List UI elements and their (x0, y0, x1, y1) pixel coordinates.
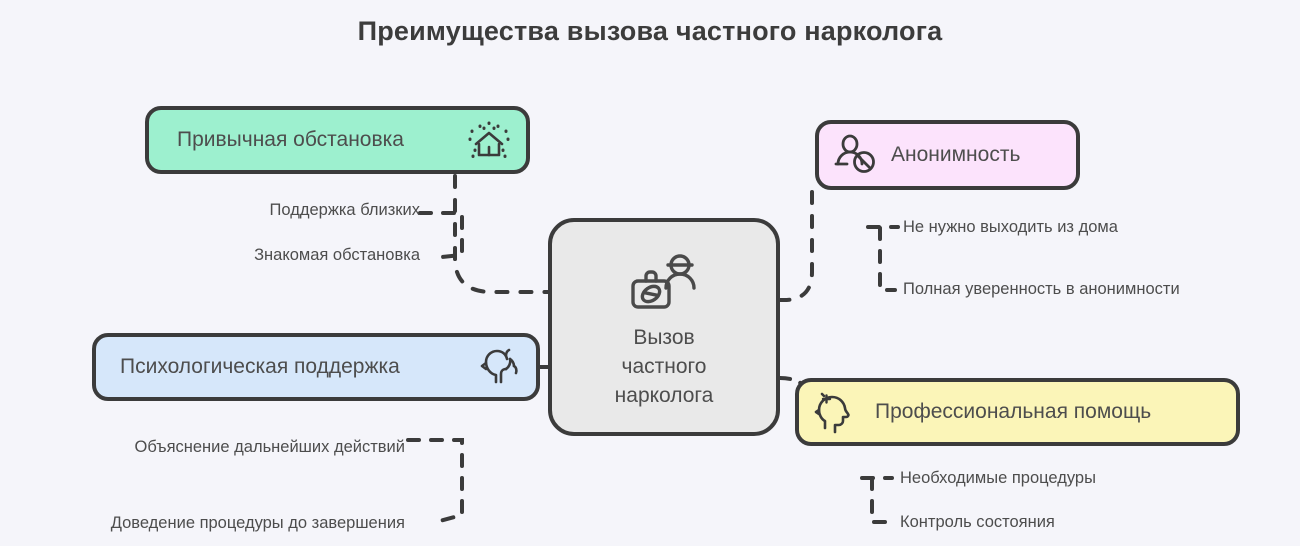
branch-label-yellow: Профессиональная помощь (875, 400, 1151, 424)
head-with-medical-cross-icon (813, 390, 861, 434)
central-node-label: Вызов частного нарколога (615, 323, 714, 410)
sub-label-pink-1: Полная уверенность в анонимности (903, 280, 1180, 299)
branch-label-pink: Анонимность (891, 143, 1020, 167)
branch-node-blue[interactable]: Психологическая поддержка (92, 333, 540, 401)
connector-pink-to-center (780, 192, 812, 300)
sub-label-blue-0: Объяснение дальнейших действий (60, 438, 405, 457)
sub-label-blue-1: Доведение процедуры до завершения (45, 514, 405, 533)
sub-label-yellow-1: Контроль состояния (900, 513, 1055, 532)
central-node[interactable]: Вызов частного нарколога (548, 218, 780, 436)
connector-blue-children (408, 440, 462, 522)
branch-label-green: Привычная обстановка (177, 128, 404, 152)
connector-pink-children (880, 228, 895, 290)
branch-node-yellow[interactable]: Профессиональная помощь (795, 378, 1240, 446)
branch-node-pink[interactable]: Анонимность (815, 120, 1080, 190)
doctor-with-medical-bag-icon (625, 251, 703, 313)
anonymous-person-icon (833, 134, 879, 176)
house-icon (466, 118, 512, 162)
connector-yellow-children (872, 478, 890, 522)
branch-label-blue: Психологическая поддержка (120, 355, 400, 379)
sub-label-green-1: Знакомая обстановка (185, 246, 420, 265)
sub-label-green-0: Поддержка близких (205, 201, 420, 220)
head-with-hand-icon (476, 346, 522, 388)
branch-node-green[interactable]: Привычная обстановка (145, 106, 530, 174)
mindmap-canvas: Преимущества вызова частного нарколога (0, 0, 1300, 546)
sub-label-pink-0: Не нужно выходить из дома (903, 218, 1118, 237)
connector-green-to-center (455, 176, 548, 292)
sub-label-yellow-0: Необходимые процедуры (900, 469, 1096, 488)
